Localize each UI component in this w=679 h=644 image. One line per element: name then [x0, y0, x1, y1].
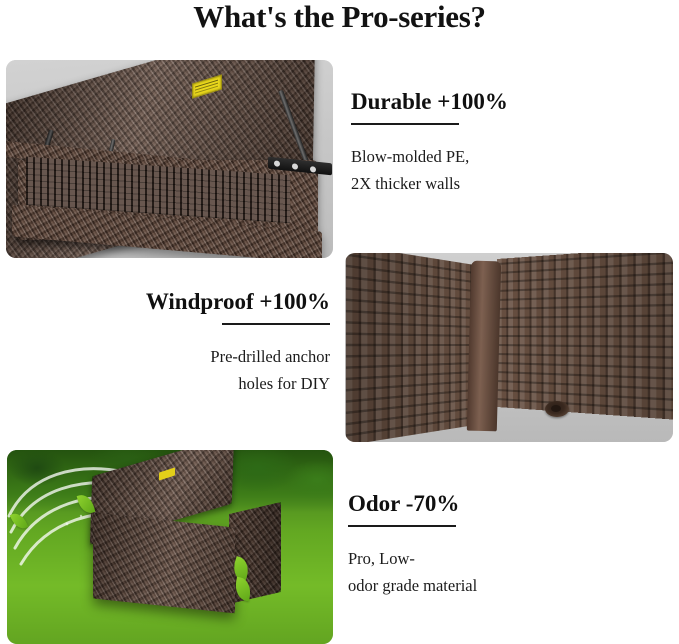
photo-open-deck-box: Open brown wicker-textured deck box with…: [6, 60, 333, 258]
feature-heading-durable: Durable +100%: [351, 88, 661, 116]
feature-body-line-2: odor grade material: [348, 572, 658, 599]
heading-underline-odor: [348, 525, 456, 527]
right-face-shading: [497, 253, 673, 420]
feature-body-line-2: holes for DIY: [20, 370, 330, 397]
anchor-hole-icon: [545, 401, 569, 417]
feature-heading-windproof: Windproof +100%: [20, 288, 330, 316]
feature-block-odor: Odor -70% Pro, Low- odor grade material: [348, 490, 658, 599]
heading-underline-durable: [351, 123, 459, 125]
feature-block-windproof: Windproof +100% Pre-drilled anchor holes…: [20, 288, 330, 397]
feature-heading-odor: Odor -70%: [348, 490, 658, 518]
lawn-box-front-panel: [93, 513, 235, 614]
feature-body-durable: Blow-molded PE, 2X thicker walls: [351, 143, 661, 197]
feature-body-line-1: Pro, Low-: [348, 545, 658, 572]
photo-lawn-scene: Deck box open on green lawn with airflow…: [7, 450, 333, 644]
feature-body-windproof: Pre-drilled anchor holes for DIY: [20, 343, 330, 397]
feature-body-odor: Pro, Low- odor grade material: [348, 545, 658, 599]
box-right-face: [497, 253, 673, 420]
feature-body-line-1: Blow-molded PE,: [351, 143, 661, 170]
left-face-shading: [346, 253, 475, 442]
feature-body-line-1: Pre-drilled anchor: [20, 343, 330, 370]
feature-body-line-2: 2X thicker walls: [351, 170, 661, 197]
photo-wicker-corner-closeup: Close-up of woven wicker corner with pre…: [345, 253, 673, 442]
box-left-face: [346, 253, 475, 442]
feature-block-durable: Durable +100% Blow-molded PE, 2X thicker…: [351, 88, 661, 197]
box-corner-edge: [467, 261, 501, 432]
heading-underline-windproof: [222, 323, 330, 325]
page-title: What's the Pro-series?: [0, 0, 679, 36]
front-shading: [93, 513, 235, 614]
